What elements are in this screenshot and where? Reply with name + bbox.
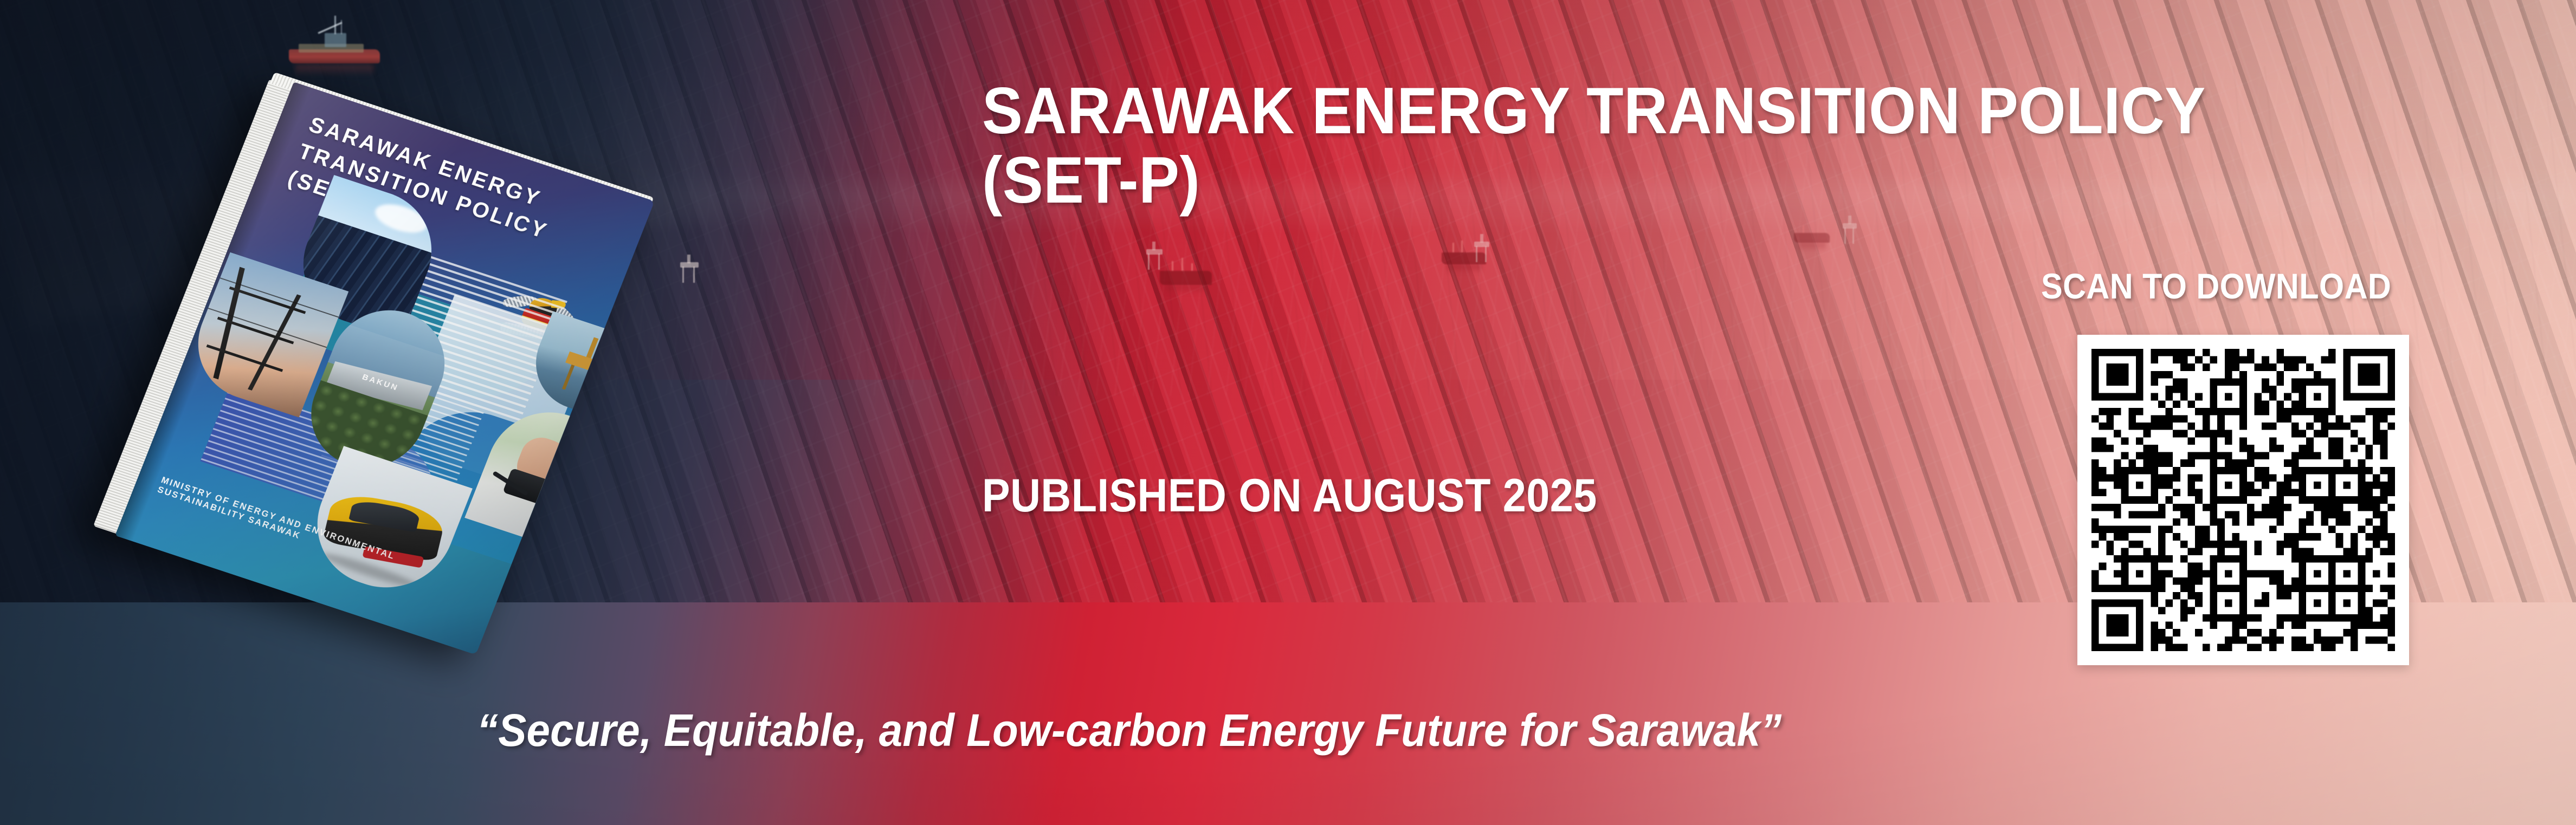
scan-to-download-label: SCAN TO DOWNLOAD: [2041, 265, 2412, 307]
set-p-promo-banner: SARAWAK ENERGY TRANSITION POLICY (SET-P): [0, 0, 2576, 825]
qr-code-canvas[interactable]: [2091, 349, 2395, 651]
boat-icon-1: [1160, 271, 1212, 285]
page-title: SARAWAK ENERGY TRANSITION POLICY (SET-P): [982, 76, 2358, 215]
cover-gloss: [115, 82, 654, 655]
offshore-turbine-2: [1146, 244, 1163, 270]
publication-date-label: PUBLISHED ON AUGUST 2025: [982, 469, 1860, 523]
page-title-line-2: (SET-P): [982, 145, 2358, 215]
qr-code[interactable]: [2077, 335, 2409, 665]
book-3d: SARAWAK ENERGY TRANSITION POLICY (SET-P): [115, 82, 654, 655]
page-title-line-1: SARAWAK ENERGY TRANSITION POLICY: [982, 74, 2206, 147]
tagline: “Secure, Equitable, and Low-carbon Energ…: [477, 704, 2191, 757]
book-cover: SARAWAK ENERGY TRANSITION POLICY (SET-P): [115, 82, 654, 655]
offshore-turbine-4: [1843, 222, 1857, 244]
boat-icon-3: [1794, 233, 1830, 243]
offshore-turbine-3: [1474, 238, 1489, 262]
book-mockup: SARAWAK ENERGY TRANSITION POLICY (SET-P): [33, 43, 878, 780]
